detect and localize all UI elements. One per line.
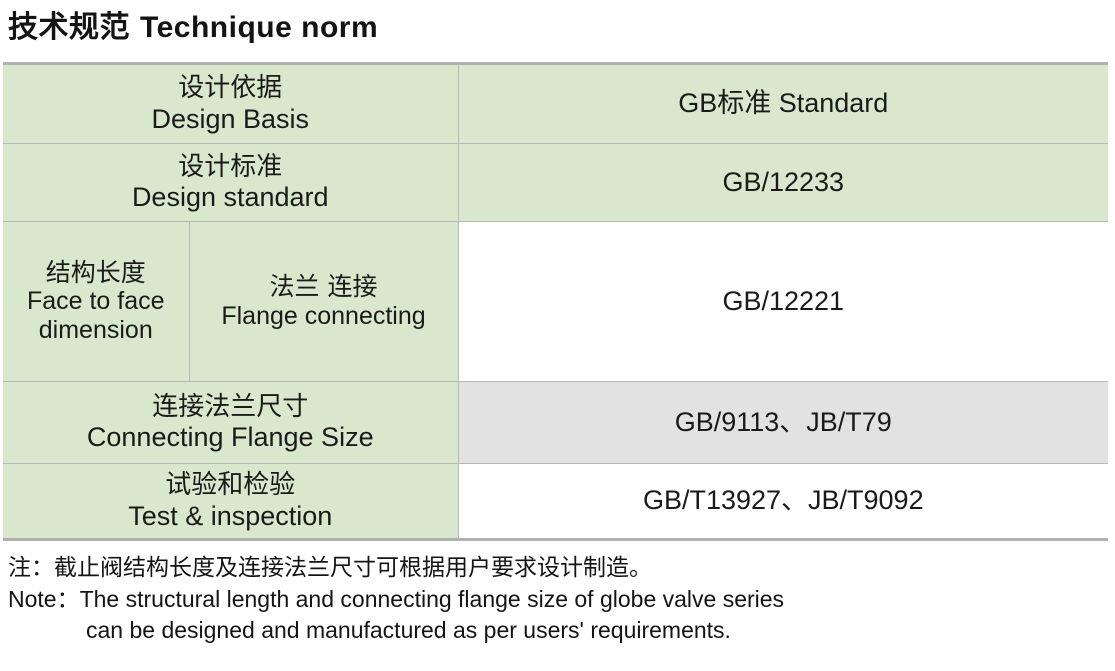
- row-label-cn: 试验和检验: [7, 470, 454, 501]
- row-label-connecting-flange-size: 连接法兰尺寸 Connecting Flange Size: [3, 382, 458, 464]
- row-label-en: Design Basis: [7, 104, 454, 135]
- row-label-cn: 结构长度: [7, 259, 185, 288]
- row-value-test-inspection: GB/T13927、JB/T9092: [458, 464, 1108, 540]
- row-value-text: GB/T13927、JB/T9092: [463, 485, 1105, 516]
- row-value-text: GB标准 Standard: [463, 88, 1105, 119]
- row-label-cn: 设计依据: [7, 73, 454, 104]
- table-row: 设计标准 Design standard GB/12233: [3, 144, 1108, 222]
- table-row: 设计依据 Design Basis GB标准 Standard: [3, 64, 1108, 144]
- table-row: 试验和检验 Test & inspection GB/T13927、JB/T90…: [3, 464, 1108, 540]
- row-label-cn: 法兰 连接: [194, 273, 454, 302]
- row-label-en: Face to face dimension: [7, 287, 185, 344]
- row-value-face-to-face: GB/12221: [458, 222, 1108, 382]
- row-value-connecting-flange-size: GB/9113、JB/T79: [458, 382, 1108, 464]
- row-value-design-basis: GB标准 Standard: [458, 64, 1108, 144]
- table-row: 连接法兰尺寸 Connecting Flange Size GB/9113、JB…: [3, 382, 1108, 464]
- footnote-en-line-1: Note：The structural length and connectin…: [8, 584, 1108, 615]
- row-label-design-basis: 设计依据 Design Basis: [3, 64, 458, 144]
- row-label-en: Design standard: [7, 182, 454, 213]
- row-label-en: Connecting Flange Size: [7, 422, 454, 453]
- row-label-face-to-face: 结构长度 Face to face dimension: [3, 222, 189, 382]
- footnote: 注：截止阀结构长度及连接法兰尺寸可根据用户要求设计制造。 Note：The st…: [8, 552, 1108, 646]
- row-label-test-inspection: 试验和检验 Test & inspection: [3, 464, 458, 540]
- table-row: 结构长度 Face to face dimension 法兰 连接 Flange…: [3, 222, 1108, 382]
- row-value-text: GB/12221: [463, 286, 1105, 317]
- row-value-text: GB/9113、JB/T79: [463, 407, 1105, 438]
- technique-norm-page: 技术规范Technique norm 设计依据 Design Basis GB标…: [0, 0, 1115, 671]
- page-title-en: Technique norm: [130, 11, 378, 44]
- row-label-cn: 连接法兰尺寸: [7, 392, 454, 423]
- row-value-design-standard: GB/12233: [458, 144, 1108, 222]
- footnote-en-line-2: can be designed and manufactured as per …: [8, 615, 1108, 646]
- row-label-flange-connecting: 法兰 连接 Flange connecting: [189, 222, 458, 382]
- page-title: 技术规范Technique norm: [8, 8, 378, 48]
- row-label-cn: 设计标准: [7, 152, 454, 183]
- footnote-cn: 注：截止阀结构长度及连接法兰尺寸可根据用户要求设计制造。: [8, 552, 1108, 584]
- row-value-text: GB/12233: [463, 167, 1105, 198]
- row-label-en: Test & inspection: [7, 501, 454, 532]
- row-label-en: Flange connecting: [194, 302, 454, 331]
- page-title-cn: 技术规范: [8, 10, 130, 45]
- technique-norm-table: 设计依据 Design Basis GB标准 Standard 设计标准 Des…: [3, 62, 1108, 541]
- row-label-design-standard: 设计标准 Design standard: [3, 144, 458, 222]
